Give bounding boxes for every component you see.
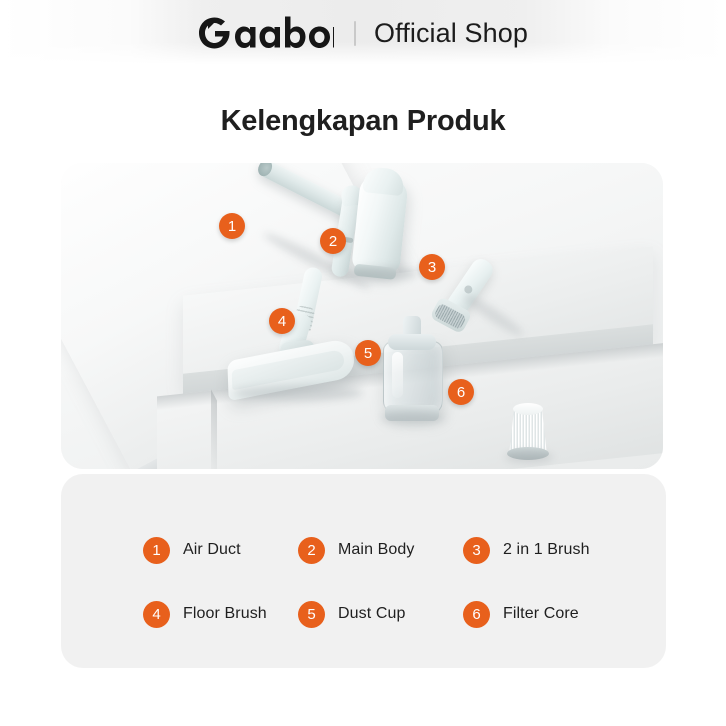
legend-badge-1-number: 1: [152, 543, 160, 558]
gaabor-logo: [198, 16, 334, 50]
main-body-shadow: [347, 267, 417, 281]
product-part-dust-cup: [383, 341, 443, 415]
brand-divider: [354, 21, 356, 46]
legend-badge-5: 5: [298, 601, 325, 628]
legend-badge-3-number: 3: [472, 543, 480, 558]
photo-marker-1-number: 1: [228, 219, 236, 234]
legend-item-filter-core[interactable]: 6 Filter Core: [463, 601, 643, 628]
photo-marker-3[interactable]: 3: [419, 254, 445, 280]
photo-marker-5[interactable]: 5: [355, 340, 381, 366]
legend-badge-6: 6: [463, 601, 490, 628]
photo-marker-1[interactable]: 1: [219, 213, 245, 239]
photo-marker-6-number: 6: [457, 385, 465, 400]
legend-badge-6-number: 6: [472, 607, 480, 622]
legend-badge-1: 1: [143, 537, 170, 564]
legend-item-floor-brush[interactable]: 4 Floor Brush: [143, 601, 298, 628]
legend-badge-4-number: 4: [152, 607, 160, 622]
product-part-main-body: [351, 175, 409, 275]
floor-brush-shadow: [233, 385, 363, 401]
legend-label-dust-cup: Dust Cup: [338, 605, 406, 623]
legend-item-main-body[interactable]: 2 Main Body: [298, 537, 463, 564]
photo-marker-4[interactable]: 4: [269, 308, 295, 334]
legend-badge-2-number: 2: [307, 543, 315, 558]
legend-item-2-in-1-brush[interactable]: 3 2 in 1 Brush: [463, 537, 643, 564]
dust-cup-shadow: [381, 411, 445, 425]
legend-label-2-in-1-brush: 2 in 1 Brush: [503, 541, 590, 559]
product-photo-scene: [61, 163, 663, 469]
legend-item-air-duct[interactable]: 1 Air Duct: [143, 537, 298, 564]
legend-badge-5-number: 5: [307, 607, 315, 622]
legend-card: 1 Air Duct 2 Main Body 3 2 in 1 Brush 4 …: [61, 474, 666, 668]
legend-badge-2: 2: [298, 537, 325, 564]
photo-marker-4-number: 4: [278, 314, 286, 329]
legend-label-main-body: Main Body: [338, 541, 415, 559]
dust-cup-highlight: [392, 352, 403, 398]
dust-cup-collar: [388, 334, 436, 350]
legend-label-air-duct: Air Duct: [183, 541, 241, 559]
filter-core-shadow: [505, 451, 553, 463]
legend-label-filter-core: Filter Core: [503, 605, 579, 623]
photo-marker-5-number: 5: [364, 346, 372, 361]
legend-badge-4: 4: [143, 601, 170, 628]
legend-label-floor-brush: Floor Brush: [183, 605, 267, 623]
product-photo-card: 1 2 3 4 5 6: [61, 163, 663, 469]
platform-corner-shadow: [211, 389, 217, 469]
legend-item-dust-cup[interactable]: 5 Dust Cup: [298, 601, 463, 628]
photo-marker-2-number: 2: [329, 234, 337, 249]
official-shop-label: Official Shop: [374, 20, 528, 47]
photo-marker-6[interactable]: 6: [448, 379, 474, 405]
brand-header: Official Shop: [0, 13, 726, 53]
filter-core-top: [513, 403, 543, 415]
photo-marker-3-number: 3: [428, 260, 436, 275]
legend-grid: 1 Air Duct 2 Main Body 3 2 in 1 Brush 4 …: [143, 518, 643, 646]
legend-badge-3: 3: [463, 537, 490, 564]
page-title: Kelengkapan Produk: [0, 105, 726, 138]
photo-marker-2[interactable]: 2: [320, 228, 346, 254]
